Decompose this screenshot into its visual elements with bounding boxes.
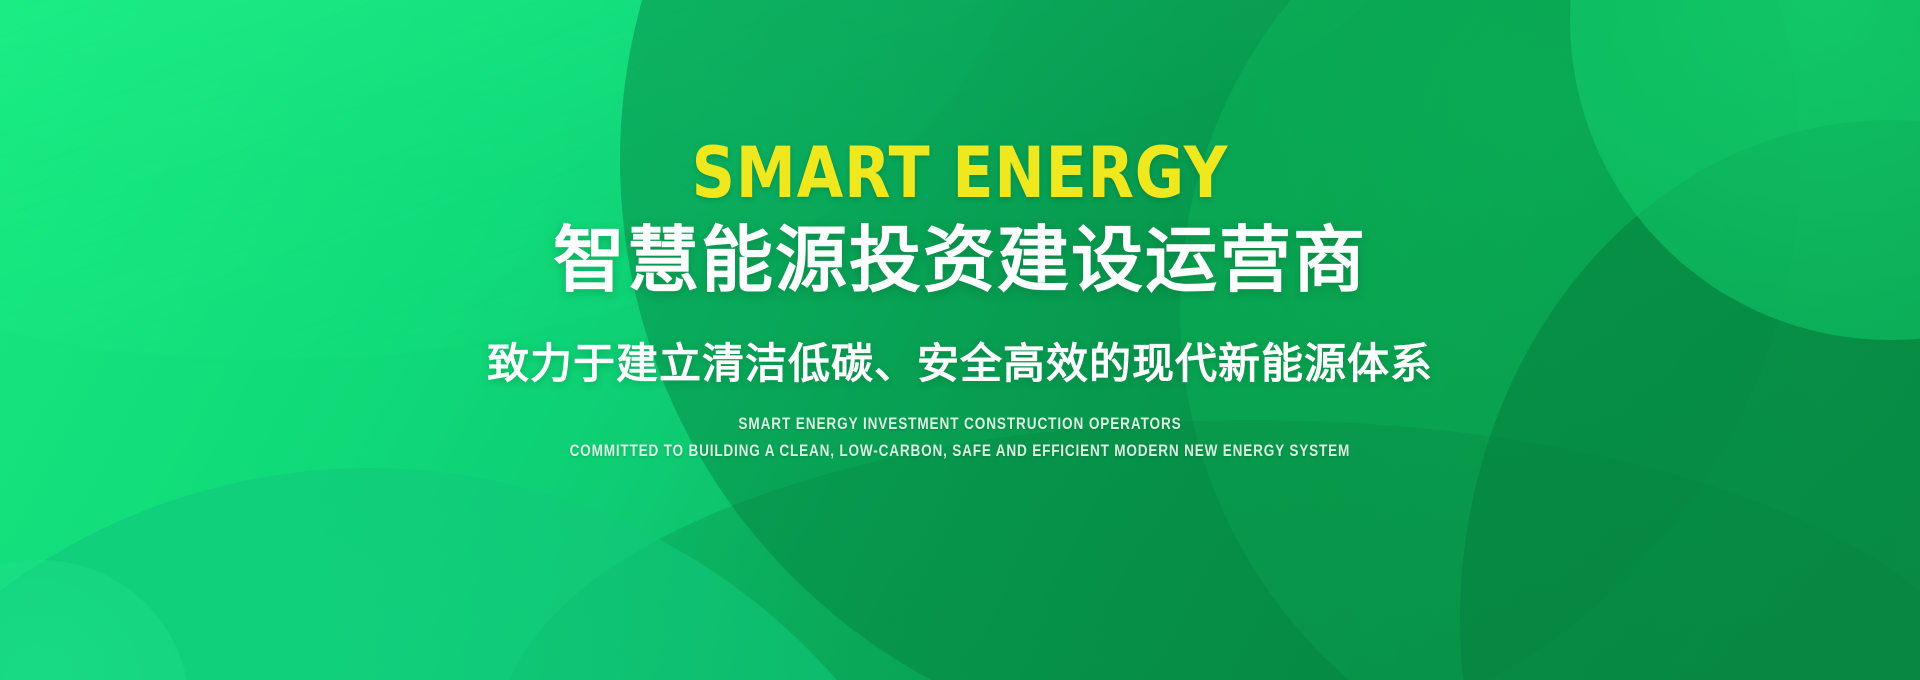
headline-chinese: 智慧能源投资建设运营商 xyxy=(553,222,1367,300)
smart-energy-hero-banner: SMART ENERGY 智慧能源投资建设运营商 致力于建立清洁低碳、安全高效的… xyxy=(0,0,1920,680)
english-caption-line-2: COMMITTED TO BUILDING A CLEAN, LOW-CARBO… xyxy=(570,441,1351,461)
banner-content: SMART ENERGY 智慧能源投资建设运营商 致力于建立清洁低碳、安全高效的… xyxy=(0,0,1920,680)
english-caption-line-1: SMART ENERGY INVESTMENT CONSTRUCTION OPE… xyxy=(738,414,1181,434)
subheadline-chinese: 致力于建立清洁低碳、安全高效的现代新能源体系 xyxy=(487,340,1433,388)
headline-english: SMART ENERGY xyxy=(692,138,1229,208)
english-caption-group: SMART ENERGY INVESTMENT CONSTRUCTION OPE… xyxy=(472,414,1448,461)
